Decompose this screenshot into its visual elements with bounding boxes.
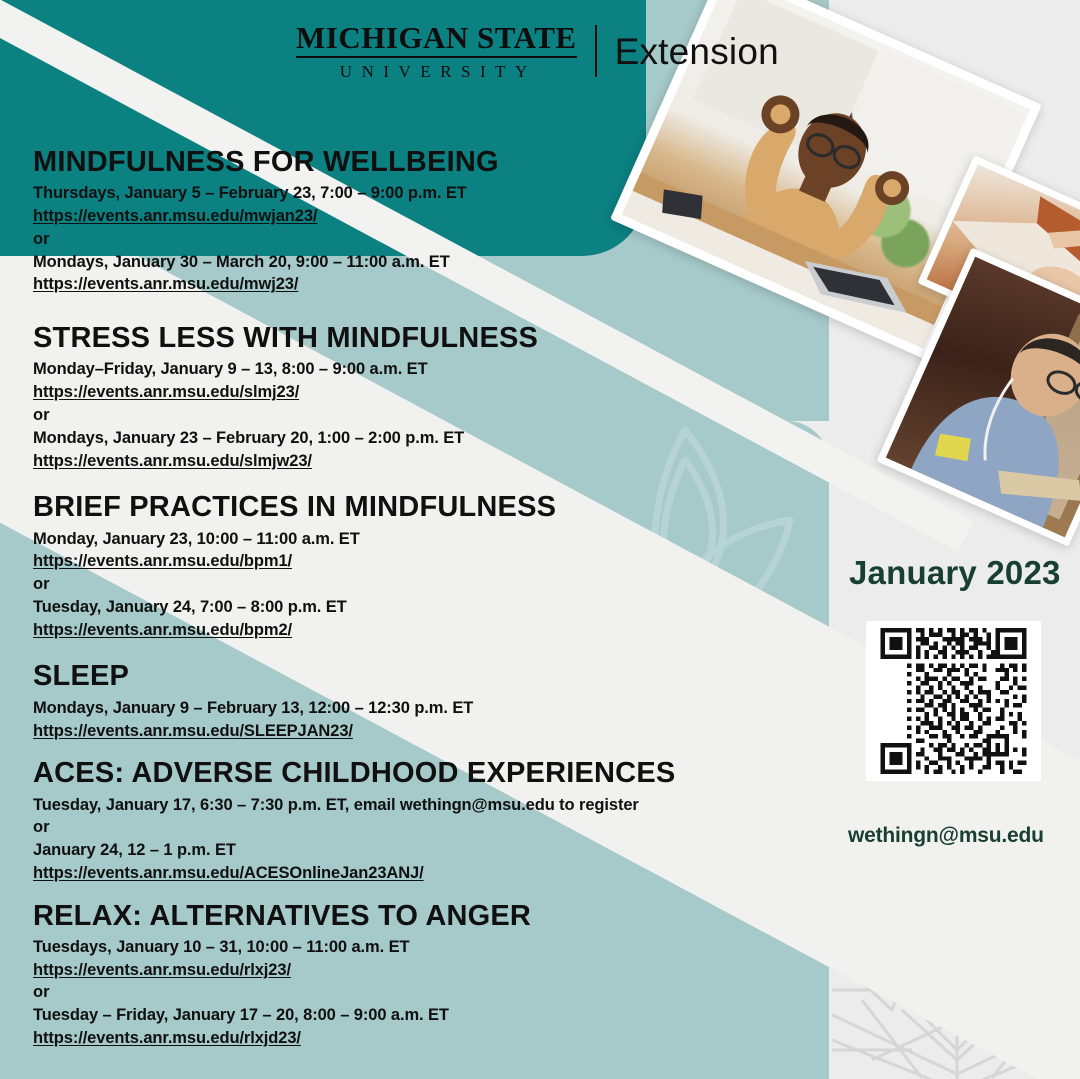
poster-canvas: MICHIGAN STATE UNIVERSITY Extension MIND… [0, 0, 1080, 1079]
event-detail-line: Mondays, January 9 – February 13, 12:00 … [33, 697, 793, 720]
event-registration-link[interactable]: https://events.anr.msu.edu/slmj23/ [33, 381, 793, 404]
msu-wordmark: MICHIGAN STATE UNIVERSITY [296, 22, 577, 80]
event-registration-link[interactable]: https://events.anr.msu.edu/mwjan23/ [33, 205, 793, 228]
month-heading: January 2023 [849, 554, 1080, 592]
event-block: SLEEPMondays, January 9 – February 13, 1… [33, 661, 793, 742]
event-block: ACES: ADVERSE CHILDHOOD EXPERIENCESTuesd… [33, 758, 793, 884]
event-title: BRIEF PRACTICES IN MINDFULNESS [33, 492, 793, 523]
event-spacer [33, 885, 793, 901]
event-detail-line: January 24, 12 – 1 p.m. ET [33, 839, 793, 862]
event-detail-line: Mondays, January 23 – February 20, 1:00 … [33, 427, 793, 450]
msu-extension-logo: MICHIGAN STATE UNIVERSITY Extension [296, 22, 779, 80]
event-title: ACES: ADVERSE CHILDHOOD EXPERIENCES [33, 758, 793, 789]
qr-code[interactable] [866, 621, 1041, 781]
event-or-separator: or [33, 228, 793, 251]
events-list: MINDFULNESS FOR WELLBEINGThursdays, Janu… [33, 147, 793, 1050]
msu-logo-line1: MICHIGAN STATE [296, 22, 577, 58]
event-detail-line: Tuesday, January 24, 7:00 – 8:00 p.m. ET [33, 596, 793, 619]
extension-wordmark: Extension [615, 33, 779, 70]
event-detail-line: Tuesday – Friday, January 17 – 20, 8:00 … [33, 1004, 793, 1027]
event-spacer [33, 296, 793, 323]
event-registration-link[interactable]: https://events.anr.msu.edu/mwj23/ [33, 273, 793, 296]
event-detail-line: Monday, January 23, 10:00 – 11:00 a.m. E… [33, 528, 793, 551]
event-registration-link[interactable]: https://events.anr.msu.edu/rlxjd23/ [33, 1027, 793, 1050]
event-detail-line: Thursdays, January 5 – February 23, 7:00… [33, 182, 793, 205]
event-block: BRIEF PRACTICES IN MINDFULNESSMonday, Ja… [33, 492, 793, 641]
event-registration-link[interactable]: https://events.anr.msu.edu/slmjw23/ [33, 450, 793, 473]
contact-email[interactable]: wethingn@msu.edu [848, 824, 1080, 848]
event-block: MINDFULNESS FOR WELLBEINGThursdays, Janu… [33, 147, 793, 296]
event-spacer [33, 472, 793, 492]
event-spacer [33, 742, 793, 758]
event-title: STRESS LESS WITH MINDFULNESS [33, 323, 793, 354]
event-detail-line: Monday–Friday, January 9 – 13, 8:00 – 9:… [33, 358, 793, 381]
event-registration-link[interactable]: https://events.anr.msu.edu/bpm1/ [33, 550, 793, 573]
event-detail-line: Tuesdays, January 10 – 31, 10:00 – 11:00… [33, 936, 793, 959]
event-block: RELAX: ALTERNATIVES TO ANGERTuesdays, Ja… [33, 901, 793, 1050]
msu-logo-line2: UNIVERSITY [296, 58, 577, 80]
event-or-separator: or [33, 816, 793, 839]
event-title: MINDFULNESS FOR WELLBEING [33, 147, 793, 178]
event-title: SLEEP [33, 661, 793, 692]
event-spacer [33, 641, 793, 661]
event-registration-link[interactable]: https://events.anr.msu.edu/bpm2/ [33, 619, 793, 642]
event-detail-line: Tuesday, January 17, 6:30 – 7:30 p.m. ET… [33, 794, 793, 817]
event-block: STRESS LESS WITH MINDFULNESSMonday–Frida… [33, 323, 793, 472]
event-registration-link[interactable]: https://events.anr.msu.edu/rlxj23/ [33, 959, 793, 982]
logo-divider [595, 25, 597, 77]
event-registration-link[interactable]: https://events.anr.msu.edu/ACESOnlineJan… [33, 862, 793, 885]
event-or-separator: or [33, 573, 793, 596]
event-registration-link[interactable]: https://events.anr.msu.edu/SLEEPJAN23/ [33, 720, 793, 743]
event-detail-line: Mondays, January 30 – March 20, 9:00 – 1… [33, 251, 793, 274]
qr-code-image [873, 628, 1034, 774]
event-title: RELAX: ALTERNATIVES TO ANGER [33, 901, 793, 932]
event-or-separator: or [33, 404, 793, 427]
event-or-separator: or [33, 981, 793, 1004]
